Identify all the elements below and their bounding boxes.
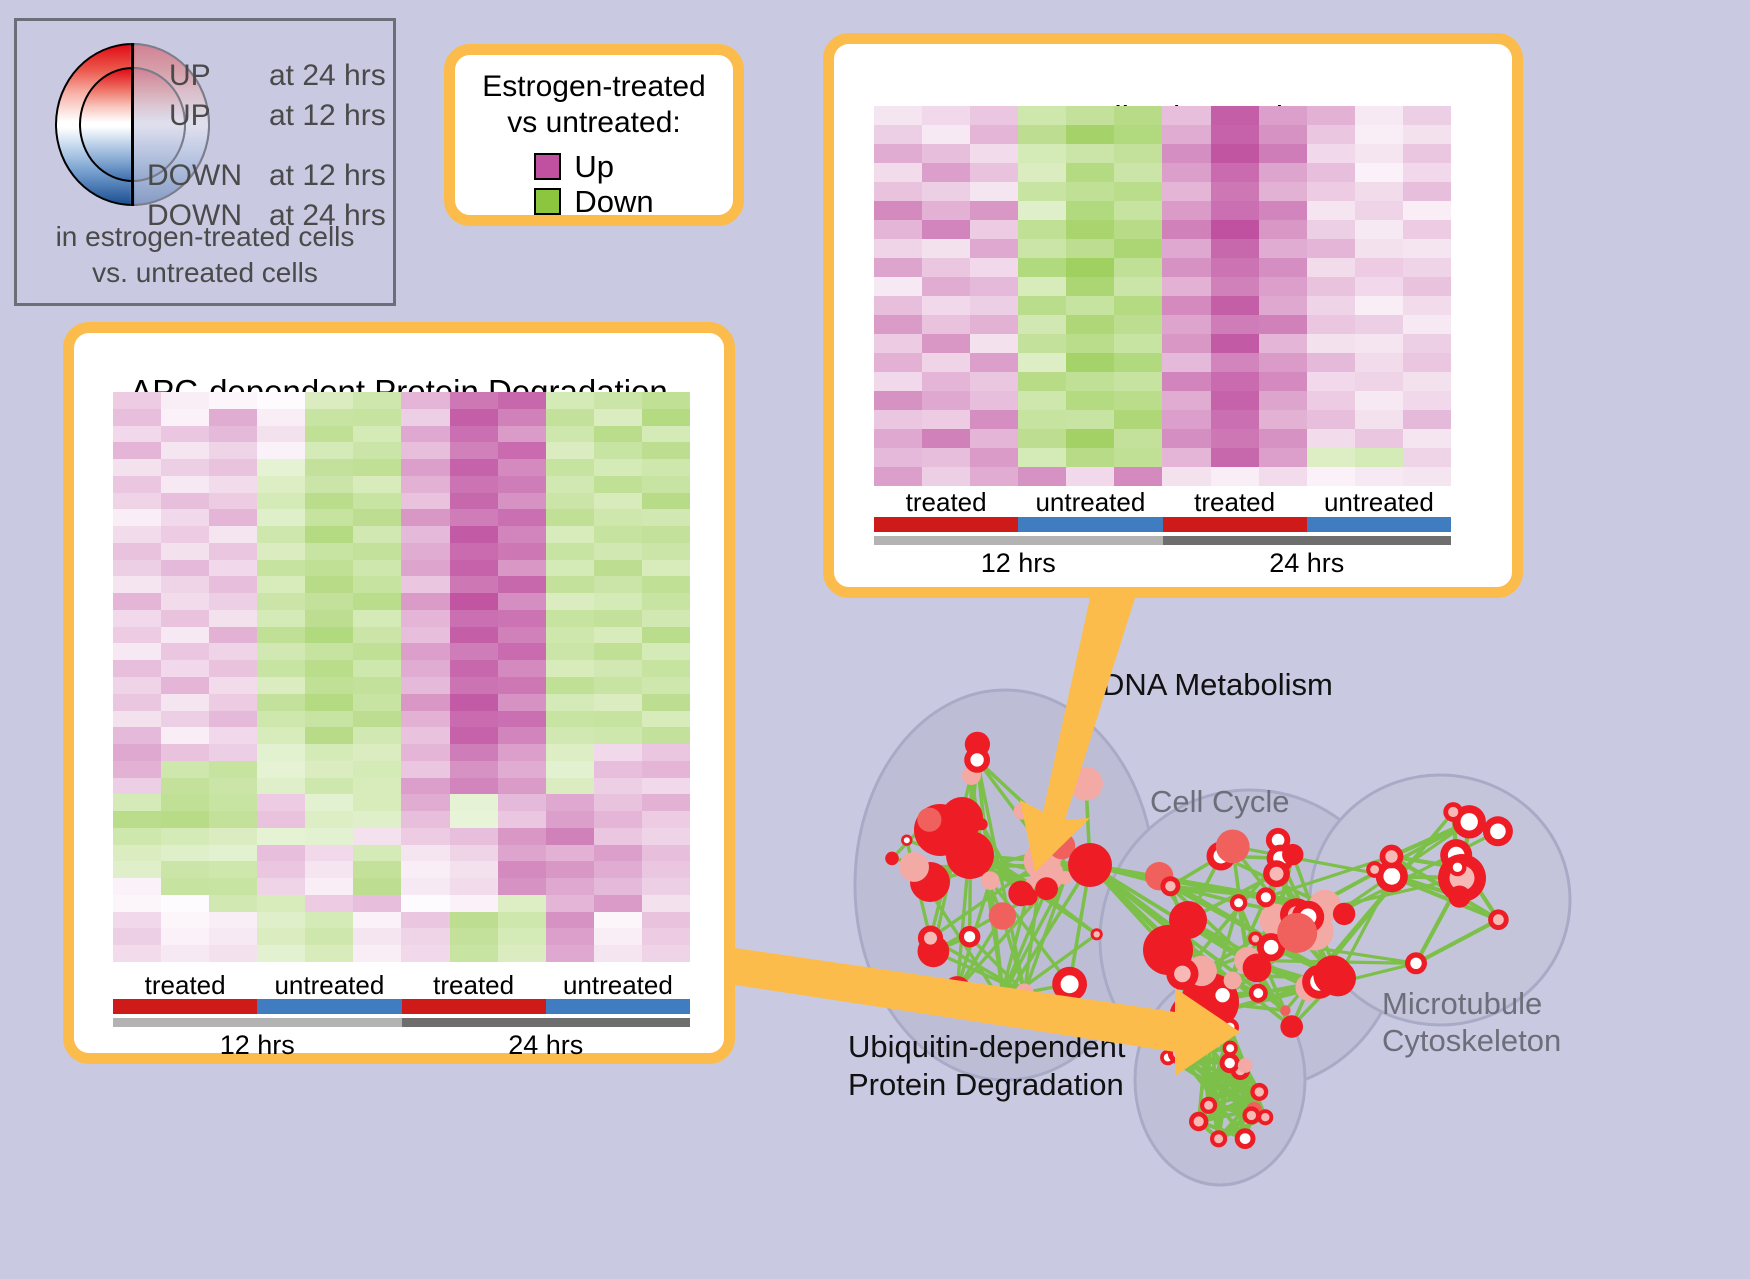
heatmap-cell	[922, 410, 970, 429]
heatmap-cell	[305, 727, 353, 744]
legend-item-down: Down	[534, 186, 653, 217]
heatmap-cell	[161, 409, 209, 426]
heatmap-cell	[546, 509, 594, 526]
heatmap-cell	[257, 945, 305, 962]
heatmap-cell	[594, 861, 642, 878]
network-node	[1014, 803, 1031, 820]
heatmap-cell	[161, 560, 209, 577]
heatmap-cell	[546, 409, 594, 426]
heatmap-cell	[450, 426, 498, 443]
heatmap-cell	[1355, 296, 1403, 315]
heatmap-cell	[1403, 144, 1451, 163]
heatmap-cell	[1162, 448, 1210, 467]
heatmap-cell	[209, 476, 257, 493]
heatmap-cell	[970, 125, 1018, 144]
heatmap-cell	[1162, 201, 1210, 220]
heatmap-cell	[305, 761, 353, 778]
heatmap-cell	[353, 560, 401, 577]
heatmap-cell	[209, 945, 257, 962]
heatmap-cell	[1403, 391, 1451, 410]
network-node-core	[1165, 881, 1175, 891]
heatmap-cell	[594, 493, 642, 510]
heatmap-cell	[970, 163, 1018, 182]
treatment-color-segment	[1163, 517, 1307, 532]
heatmap-cell	[642, 694, 690, 711]
heatmap-cell	[1066, 163, 1114, 182]
heatmap-cell	[401, 560, 449, 577]
legend-items: Up Down	[534, 147, 653, 217]
heatmap-cell	[970, 144, 1018, 163]
heatmap-cell	[257, 643, 305, 660]
treatment-label: untreated	[257, 970, 401, 1001]
heatmap-cell	[874, 106, 922, 125]
heatmap-cell	[1066, 429, 1114, 448]
heatmap-cell	[257, 811, 305, 828]
heatmap-cell	[874, 448, 922, 467]
heatmap-cell	[353, 509, 401, 526]
heatmap-cell	[305, 811, 353, 828]
heatmap-cell	[209, 861, 257, 878]
heatmap-cell	[353, 694, 401, 711]
heatmap-cell	[594, 945, 642, 962]
heatmap-cell	[450, 660, 498, 677]
heatmap-cell	[161, 727, 209, 744]
heatmap-cell	[498, 509, 546, 526]
heatmap-cell	[1307, 258, 1355, 277]
heatmap-cell	[594, 426, 642, 443]
heatmap-cell	[1211, 220, 1259, 239]
heatmap-cell	[209, 845, 257, 862]
heatmap-cell	[257, 509, 305, 526]
heatmap-cell	[1259, 258, 1307, 277]
heatmap-cell	[642, 660, 690, 677]
heatmap-cell	[305, 660, 353, 677]
heatmap-cell	[874, 277, 922, 296]
heatmap-cell	[498, 593, 546, 610]
apc-dependent-heatmap	[113, 392, 690, 962]
heatmap-cell	[257, 576, 305, 593]
heatmap-cell	[874, 125, 922, 144]
legend-swatch-down-icon	[534, 188, 561, 215]
heatmap-cell	[113, 643, 161, 660]
ring-split-line	[131, 43, 134, 206]
heatmap-cell	[1066, 144, 1114, 163]
heatmap-cell	[1066, 334, 1114, 353]
heatmap-cell	[1403, 277, 1451, 296]
heatmap-cell	[1066, 277, 1114, 296]
heatmap-cell	[546, 928, 594, 945]
heatmap-cell	[209, 761, 257, 778]
heatmap-cell	[305, 560, 353, 577]
color-scale-key-box: UP at 24 hrs UP at 12 hrs DOWN at 12 hrs…	[14, 18, 396, 306]
heatmap-cell	[1162, 410, 1210, 429]
heatmap-cell	[1211, 296, 1259, 315]
heatmap-cell	[450, 727, 498, 744]
heatmap-cell	[305, 861, 353, 878]
heatmap-cell	[305, 895, 353, 912]
heatmap-cell	[353, 677, 401, 694]
heatmap-cell	[1162, 106, 1210, 125]
heatmap-cell	[1114, 353, 1162, 372]
heatmap-cell	[209, 576, 257, 593]
heatmap-cell	[594, 660, 642, 677]
heatmap-cell	[401, 627, 449, 644]
apc-time-labels: 12 hrs24 hrs	[113, 1030, 690, 1061]
heatmap-cell	[1259, 353, 1307, 372]
heatmap-cell	[498, 711, 546, 728]
network-node-core	[1225, 1023, 1235, 1033]
heatmap-cell	[401, 761, 449, 778]
heatmap-cell	[401, 677, 449, 694]
heatmap-cell	[353, 711, 401, 728]
heatmap-cell	[1211, 372, 1259, 391]
network-node	[1282, 844, 1303, 865]
heatmap-cell	[113, 459, 161, 476]
heatmap-cell	[209, 593, 257, 610]
heatmap-cell	[450, 442, 498, 459]
heatmap-cell	[257, 761, 305, 778]
heatmap-cell	[1211, 391, 1259, 410]
heatmap-cell	[161, 476, 209, 493]
network-node	[1313, 955, 1352, 994]
heatmap-cell	[1259, 296, 1307, 315]
heatmap-cell	[642, 912, 690, 929]
network-node-core	[1453, 863, 1462, 872]
heatmap-cell	[450, 409, 498, 426]
heatmap-cell	[450, 560, 498, 577]
heatmap-cell	[922, 467, 970, 486]
heatmap-cell	[498, 677, 546, 694]
key-caption-line2: vs. untreated cells	[17, 255, 393, 291]
heatmap-cell	[1114, 258, 1162, 277]
heatmap-cell	[1018, 106, 1066, 125]
heatmap-cell	[1355, 277, 1403, 296]
network-node	[1008, 881, 1034, 907]
heatmap-cell	[450, 643, 498, 660]
heatmap-cell	[161, 861, 209, 878]
heatmap-cell	[257, 610, 305, 627]
heatmap-cell	[1355, 391, 1403, 410]
heatmap-cell	[642, 845, 690, 862]
heatmap-cell	[305, 845, 353, 862]
heatmap-cell	[305, 694, 353, 711]
heatmap-cell	[257, 928, 305, 945]
heatmap-cell	[1403, 125, 1451, 144]
treatment-label: untreated	[1307, 487, 1451, 518]
heatmap-cell	[922, 106, 970, 125]
heatmap-cell	[1355, 334, 1403, 353]
heatmap-cell	[594, 476, 642, 493]
heatmap-cell	[1018, 201, 1066, 220]
heatmap-cell	[594, 811, 642, 828]
heatmap-cell	[546, 744, 594, 761]
heatmap-cell	[209, 928, 257, 945]
heatmap-cell	[1307, 372, 1355, 391]
heatmap-cell	[594, 593, 642, 610]
heatmap-cell	[874, 182, 922, 201]
heatmap-cell	[642, 878, 690, 895]
heatmap-cell	[161, 392, 209, 409]
heatmap-cell	[401, 442, 449, 459]
heatmap-cell	[546, 593, 594, 610]
network-node	[976, 818, 988, 830]
heatmap-cell	[642, 526, 690, 543]
heatmap-cell	[161, 610, 209, 627]
heatmap-cell	[594, 643, 642, 660]
heatmap-cell	[353, 392, 401, 409]
heatmap-cell	[498, 811, 546, 828]
heatmap-cell	[1066, 448, 1114, 467]
time-color-segment	[402, 1018, 691, 1027]
heatmap-cell	[642, 442, 690, 459]
replication-fork-time-labels: 12 hrs24 hrs	[874, 548, 1451, 579]
heatmap-cell	[450, 744, 498, 761]
heatmap-cell	[209, 895, 257, 912]
heatmap-cell	[1018, 163, 1066, 182]
heatmap-cell	[353, 627, 401, 644]
heatmap-cell	[113, 794, 161, 811]
heatmap-cell	[450, 828, 498, 845]
heatmap-cell	[209, 526, 257, 543]
heatmap-cell	[1066, 296, 1114, 315]
heatmap-cell	[401, 643, 449, 660]
network-node	[1169, 901, 1207, 939]
heatmap-cell	[1307, 391, 1355, 410]
heatmap-cell	[450, 627, 498, 644]
heatmap-cell	[1162, 315, 1210, 334]
heatmap-cell	[1307, 220, 1355, 239]
heatmap-cell	[209, 442, 257, 459]
heatmap-cell	[1066, 106, 1114, 125]
heatmap-cell	[1018, 429, 1066, 448]
legend-title-line1: Estrogen-treated	[455, 69, 733, 105]
heatmap-cell	[594, 409, 642, 426]
heatmap-cell	[970, 315, 1018, 334]
heatmap-cell	[970, 296, 1018, 315]
heatmap-cell	[642, 493, 690, 510]
network-graph-svg	[790, 620, 1750, 1279]
heatmap-cell	[1114, 220, 1162, 239]
heatmap-cell	[353, 643, 401, 660]
heatmap-cell	[498, 627, 546, 644]
network-node-core	[1385, 850, 1397, 862]
legend-title-line2: vs untreated:	[455, 105, 733, 141]
heatmap-cell	[970, 353, 1018, 372]
heatmap-cell	[305, 945, 353, 962]
heatmap-cell	[1355, 372, 1403, 391]
heatmap-cell	[113, 811, 161, 828]
legend-swatch-up-icon	[534, 153, 561, 180]
heatmap-cell	[1403, 372, 1451, 391]
network-node-core	[1173, 1047, 1184, 1058]
heatmap-cell	[1259, 220, 1307, 239]
network-node-core	[1194, 1116, 1204, 1126]
heatmap-cell	[113, 576, 161, 593]
heatmap-cell	[922, 163, 970, 182]
heatmap-cell	[401, 392, 449, 409]
heatmap-cell	[353, 744, 401, 761]
heatmap-cell	[1211, 125, 1259, 144]
heatmap-cell	[1018, 258, 1066, 277]
heatmap-cell	[498, 426, 546, 443]
heatmap-cell	[305, 493, 353, 510]
heatmap-cell	[353, 828, 401, 845]
heatmap-cell	[546, 660, 594, 677]
heatmap-cell	[1162, 353, 1210, 372]
heatmap-cell	[1018, 125, 1066, 144]
heatmap-cell	[642, 895, 690, 912]
heatmap-cell	[498, 694, 546, 711]
heatmap-cell	[594, 761, 642, 778]
heatmap-cell	[450, 543, 498, 560]
network-node-core	[924, 932, 937, 945]
heatmap-cell	[1355, 353, 1403, 372]
heatmap-cell	[161, 459, 209, 476]
network-node-core	[1410, 958, 1421, 969]
heatmap-cell	[353, 912, 401, 929]
heatmap-cell	[1162, 220, 1210, 239]
heatmap-cell	[257, 845, 305, 862]
heatmap-cell	[450, 392, 498, 409]
heatmap-cell	[594, 610, 642, 627]
heatmap-cell	[922, 391, 970, 410]
cluster-label-microtubule-line1: Microtubule	[1382, 985, 1561, 1022]
heatmap-cell	[113, 878, 161, 895]
network-node-core	[1261, 892, 1271, 902]
heatmap-cell	[161, 778, 209, 795]
heatmap-cell	[1403, 239, 1451, 258]
heatmap-cell	[642, 928, 690, 945]
cluster-label-ubiquitin-line1: Ubiquitin-dependent	[848, 1028, 1126, 1066]
heatmap-cell	[209, 610, 257, 627]
replication-fork-time-bar	[874, 536, 1451, 545]
heatmap-cell	[257, 560, 305, 577]
key-direction-1: UP	[169, 99, 211, 133]
time-color-segment	[874, 536, 1163, 545]
network-node-core	[1383, 868, 1400, 885]
heatmap-cell	[1355, 220, 1403, 239]
network-node-core	[1174, 966, 1191, 983]
treatment-label: treated	[402, 970, 546, 1001]
heatmap-cell	[498, 778, 546, 795]
heatmap-cell	[113, 677, 161, 694]
heatmap-cell	[257, 744, 305, 761]
heatmap-cell	[161, 593, 209, 610]
network-node	[941, 797, 983, 839]
heatmap-cell	[1114, 201, 1162, 220]
heatmap-cell	[450, 476, 498, 493]
treatment-color-segment	[402, 999, 546, 1014]
heatmap-cell	[874, 201, 922, 220]
heatmap-cell	[209, 409, 257, 426]
heatmap-cell	[1162, 467, 1210, 486]
heatmap-cell	[257, 493, 305, 510]
heatmap-cell	[353, 778, 401, 795]
network-node-core	[970, 753, 983, 766]
heatmap-cell	[498, 610, 546, 627]
heatmap-cell	[209, 878, 257, 895]
heatmap-cell	[594, 744, 642, 761]
heatmap-cell	[594, 694, 642, 711]
heatmap-cell	[546, 861, 594, 878]
heatmap-cell	[1259, 201, 1307, 220]
heatmap-cell	[594, 912, 642, 929]
heatmap-cell	[353, 593, 401, 610]
time-color-segment	[113, 1018, 402, 1027]
heatmap-cell	[594, 727, 642, 744]
heatmap-cell	[1355, 315, 1403, 334]
network-node-core	[904, 837, 910, 843]
heatmap-cell	[498, 828, 546, 845]
cluster-label-microtubule-cytoskeleton: Microtubule Cytoskeleton	[1382, 985, 1561, 1059]
heatmap-cell	[401, 778, 449, 795]
heatmap-cell	[305, 912, 353, 929]
heatmap-cell	[1355, 125, 1403, 144]
heatmap-cell	[305, 643, 353, 660]
heatmap-cell	[113, 627, 161, 644]
heatmap-cell	[353, 811, 401, 828]
network-node	[899, 852, 929, 882]
heatmap-cell	[209, 660, 257, 677]
heatmap-cell	[1114, 182, 1162, 201]
heatmap-cell	[113, 476, 161, 493]
heatmap-cell	[450, 459, 498, 476]
heatmap-cell	[353, 426, 401, 443]
heatmap-cell	[401, 845, 449, 862]
network-node	[1016, 984, 1034, 1002]
heatmap-cell	[257, 426, 305, 443]
heatmap-cell	[922, 182, 970, 201]
heatmap-cell	[450, 912, 498, 929]
network-node-core	[1264, 940, 1279, 955]
heatmap-cell	[970, 467, 1018, 486]
heatmap-cell	[450, 610, 498, 627]
heatmap-cell	[1259, 182, 1307, 201]
heatmap-cell	[450, 794, 498, 811]
network-node-core	[1261, 1113, 1269, 1121]
heatmap-cell	[209, 912, 257, 929]
heatmap-cell	[257, 912, 305, 929]
heatmap-cell	[450, 878, 498, 895]
heatmap-cell	[1403, 448, 1451, 467]
network-node	[1280, 1015, 1303, 1038]
heatmap-cell	[113, 560, 161, 577]
heatmap-cell	[257, 543, 305, 560]
heatmap-cell	[113, 778, 161, 795]
heatmap-cell	[353, 761, 401, 778]
heatmap-cell	[1114, 239, 1162, 258]
network-node-core	[1215, 988, 1229, 1002]
heatmap-cell	[1259, 429, 1307, 448]
heatmap-cell	[113, 928, 161, 945]
heatmap-cell	[209, 711, 257, 728]
heatmap-cell	[161, 928, 209, 945]
heatmap-cell	[257, 526, 305, 543]
heatmap-cell	[1066, 353, 1114, 372]
heatmap-cell	[305, 928, 353, 945]
network-node-core	[1225, 1058, 1235, 1068]
heatmap-cell	[1162, 125, 1210, 144]
heatmap-cell	[546, 392, 594, 409]
heatmap-cell	[1403, 220, 1451, 239]
heatmap-cell	[161, 945, 209, 962]
heatmap-cell	[1066, 125, 1114, 144]
heatmap-cell	[922, 144, 970, 163]
heatmap-cell	[401, 610, 449, 627]
heatmap-cell	[161, 845, 209, 862]
network-node	[1037, 815, 1051, 829]
heatmap-cell	[1211, 201, 1259, 220]
